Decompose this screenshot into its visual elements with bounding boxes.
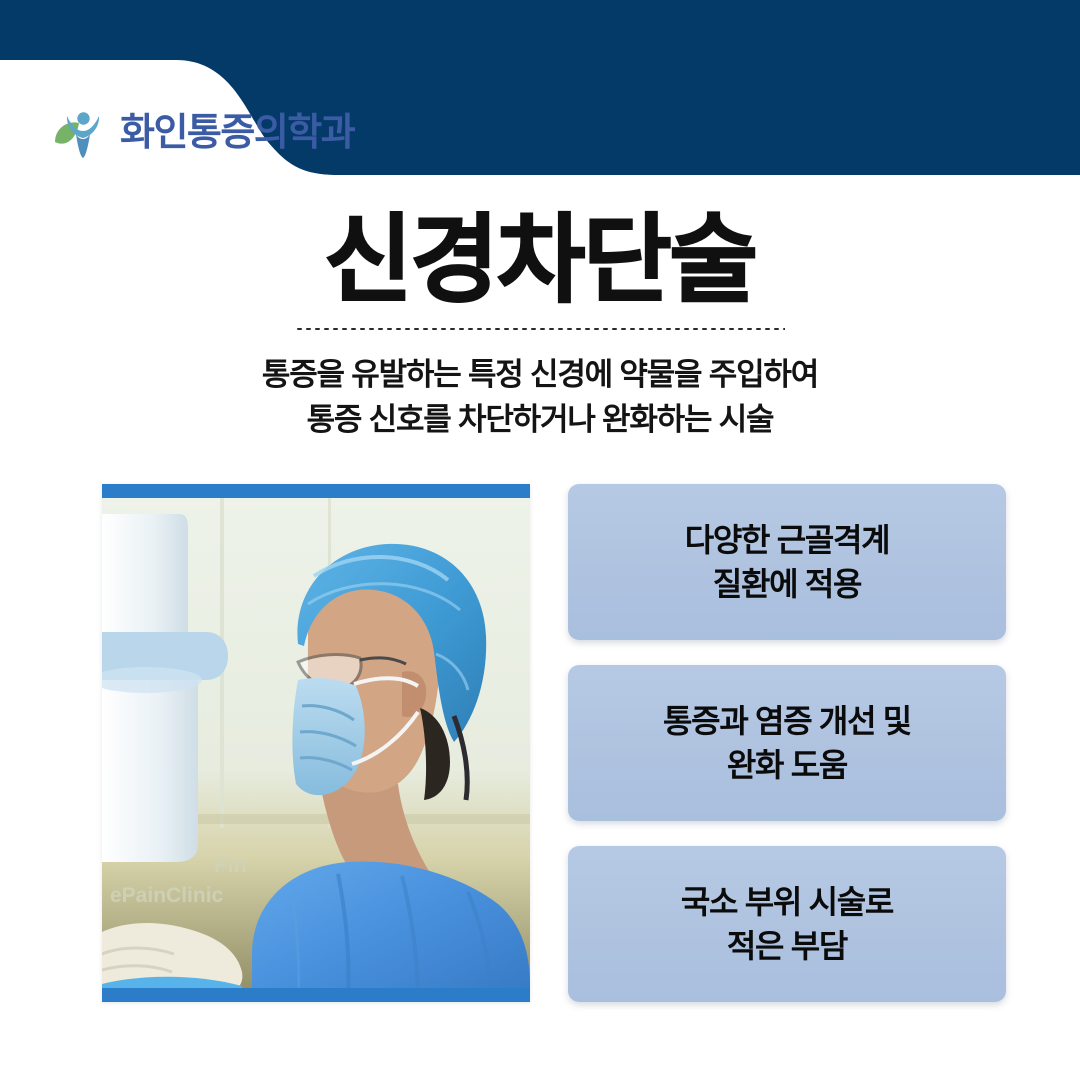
feature-box-2[interactable]: 통증과 염증 개선 및완화 도움: [568, 665, 1006, 821]
page-subtitle: 통증을 유발하는 특정 신경에 약물을 주입하여통증 신호를 차단하거나 완화하…: [0, 353, 1080, 443]
feature-3-line-2: 적은 부담: [727, 928, 847, 964]
feature-3-line-1: 국소 부위 시술로: [681, 884, 893, 920]
feature-box-2-text: 통증과 염증 개선 및완화 도움: [649, 699, 925, 787]
feature-box-3[interactable]: 국소 부위 시술로적은 부담: [568, 846, 1006, 1002]
title-block: 신경차단술 통증을 유발하는 특정 신경에 약물을 주입하여통증 신호를 차단하…: [0, 213, 1080, 443]
svg-text:Fin: Fin: [214, 852, 247, 877]
feature-1-line-2: 질환에 적용: [713, 566, 861, 602]
feature-box-3-text: 국소 부위 시술로적은 부담: [667, 880, 907, 968]
svg-text:ePainClinic: ePainClinic: [110, 884, 224, 907]
surgeon-photo: Fin ePainClinic: [102, 484, 530, 1002]
leaf-person-icon: [52, 106, 114, 160]
subtitle-line-1: 통증을 유발하는 특정 신경에 약물을 주입하여: [262, 357, 818, 392]
photo-bottom-bar: [102, 988, 530, 1002]
feature-box-1[interactable]: 다양한 근골격계질환에 적용: [568, 484, 1006, 640]
feature-box-1-text: 다양한 근골격계질환에 적용: [671, 518, 904, 606]
page-header: 화인통증의학과: [0, 0, 1080, 175]
feature-box-list: 다양한 근골격계질환에 적용 통증과 염증 개선 및완화 도움 국소 부위 시술…: [568, 484, 1006, 1002]
brand-logo[interactable]: 화인통증의학과: [52, 103, 354, 163]
feature-1-line-1: 다양한 근골격계: [685, 522, 890, 558]
subtitle-line-2: 통증 신호를 차단하거나 완화하는 시술: [307, 402, 774, 437]
page-title: 신경차단술: [0, 213, 1080, 309]
content-row: Fin ePainClinic: [0, 484, 1080, 1004]
brand-name: 화인통증의학과: [120, 114, 354, 152]
dotted-divider: [295, 327, 785, 331]
clinic-photo-card: Fin ePainClinic: [102, 484, 530, 1002]
photo-top-bar: [102, 484, 530, 498]
feature-2-line-2: 완화 도움: [727, 747, 847, 783]
feature-2-line-1: 통증과 염증 개선 및: [663, 703, 911, 739]
